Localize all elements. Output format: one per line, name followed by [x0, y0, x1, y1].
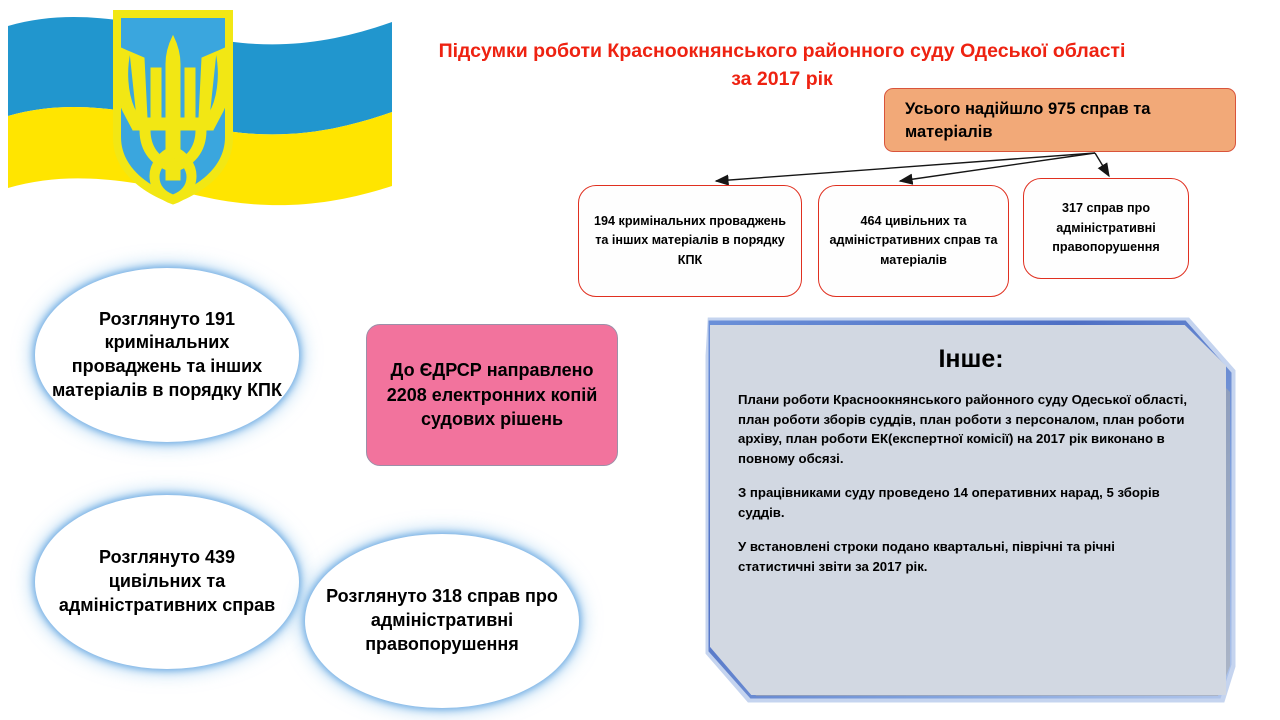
breakdown-box-administrative-text: 317 справ про адміністративні правопоруш…: [1033, 199, 1179, 258]
arrow-to-administrative-box: [1095, 153, 1109, 176]
breakdown-box-criminal: 194 кримінальних проваджень та інших мат…: [578, 185, 802, 297]
other-info-paragraph-3: У встановлені строки подано квартальні, …: [738, 537, 1204, 576]
other-info-heading: Інше:: [738, 345, 1204, 374]
result-ellipse-administrative: Розглянуто 318 справ про адміністративні…: [308, 537, 576, 705]
slide-title-line-1: Підсумки роботи Красноокнянського районн…: [382, 38, 1182, 66]
result-ellipse-criminal: Розглянуто 191 кримінальних проваджень т…: [38, 271, 296, 439]
ukraine-flag-coat-of-arms-icon: [0, 0, 400, 212]
registry-copies-box: До ЄДРСР направлено 2208 електронних коп…: [366, 324, 618, 466]
result-ellipse-administrative-text: Розглянуто 318 справ про адміністративні…: [322, 585, 562, 656]
other-info-paragraph-2: З працівниками суду проведено 14 операти…: [738, 483, 1204, 522]
presentation-slide: Підсумки роботи Красноокнянського районн…: [0, 0, 1280, 720]
total-cases-text: Усього надійшло 975 справ та матеріалів: [905, 100, 1150, 141]
other-info-panel: Інше: Плани роботи Красноокнянського рай…: [700, 316, 1236, 704]
other-info-panel-body: Інше: Плани роботи Красноокнянського рай…: [710, 325, 1226, 695]
breakdown-box-civil-text: 464 цивільних та адміністративних справ …: [828, 212, 999, 271]
breakdown-box-civil: 464 цивільних та адміністративних справ …: [818, 185, 1009, 297]
arrow-to-criminal-box: [716, 153, 1095, 181]
result-ellipse-criminal-text: Розглянуто 191 кримінальних проваджень т…: [52, 308, 282, 403]
other-info-paragraph-1: Плани роботи Красноокнянського районного…: [738, 390, 1204, 468]
breakdown-box-administrative: 317 справ про адміністративні правопоруш…: [1023, 178, 1189, 279]
registry-copies-text: До ЄДРСР направлено 2208 електронних коп…: [379, 358, 605, 431]
breakdown-box-criminal-text: 194 кримінальних проваджень та інших мат…: [588, 212, 792, 271]
result-ellipse-civil-text: Розглянуто 439 цивільних та адміністрати…: [52, 546, 282, 617]
total-cases-box: Усього надійшло 975 справ та матеріалів: [884, 88, 1236, 152]
arrow-to-civil-box: [900, 153, 1095, 181]
result-ellipse-civil: Розглянуто 439 цивільних та адміністрати…: [38, 498, 296, 666]
slide-title: Підсумки роботи Красноокнянського районн…: [382, 38, 1182, 93]
